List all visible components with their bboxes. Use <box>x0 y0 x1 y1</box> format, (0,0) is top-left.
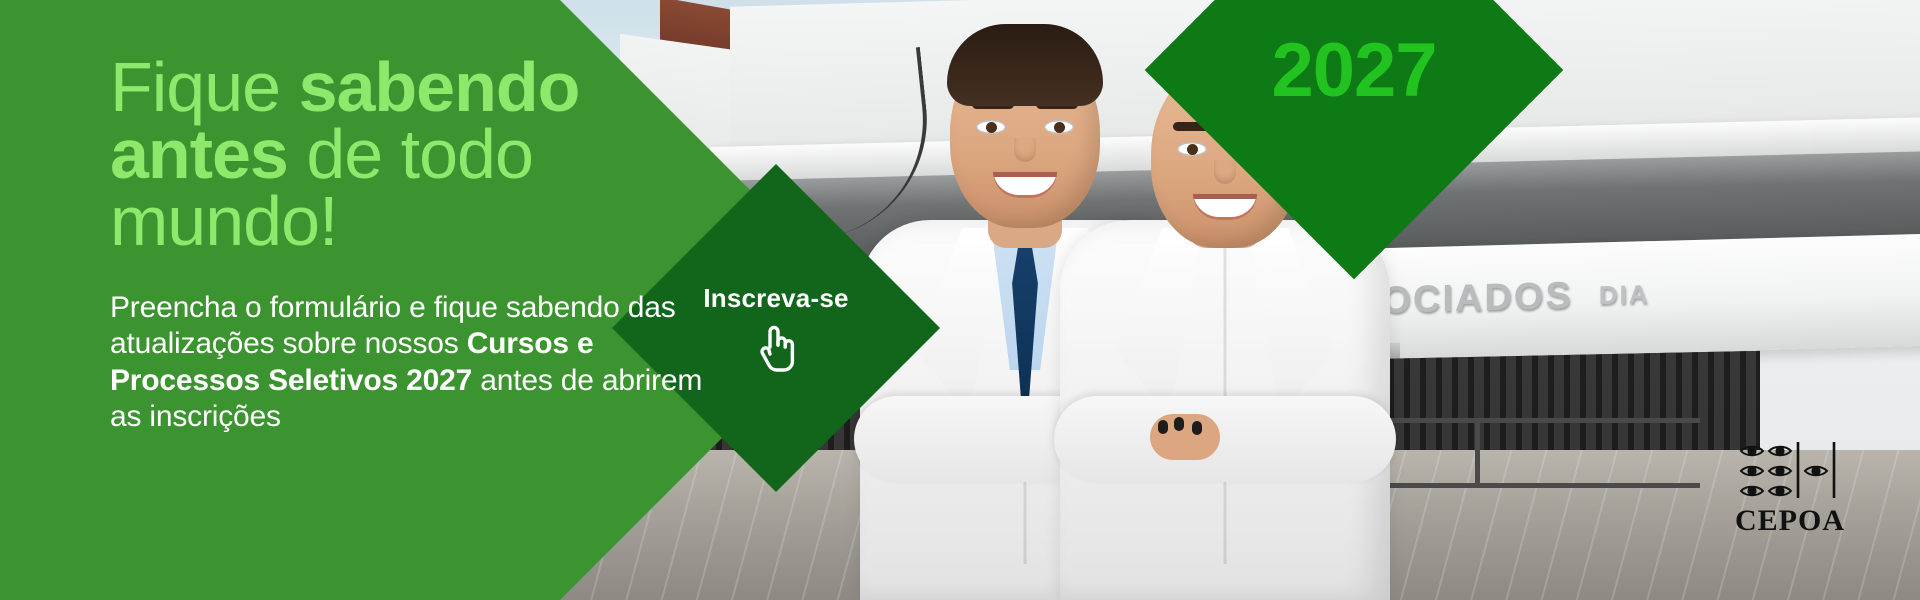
sign-suffix: DIA <box>1599 278 1650 310</box>
eye-left <box>976 120 1006 134</box>
smile <box>993 172 1057 198</box>
eye-grid-icon <box>1738 440 1842 502</box>
badge-content: 2027 <box>1206 0 1502 218</box>
pointing-hand-cursor-icon <box>749 320 803 374</box>
fingernail <box>1174 417 1184 431</box>
copy-block: Fique sabendo antes de todo mundo! Preen… <box>110 54 710 436</box>
fingernail <box>1158 420 1168 434</box>
headline: Fique sabendo antes de todo mundo! <box>110 54 710 256</box>
cta-label: Inscreva-se <box>703 283 848 314</box>
eye-left <box>1177 142 1207 156</box>
coat-lapel-left <box>1116 228 1202 418</box>
fingernail <box>1192 421 1202 435</box>
logo-wordmark: CEPOA <box>1720 504 1860 538</box>
cepoa-logo: CEPOA <box>1720 440 1860 538</box>
coat-lapel-right <box>1248 228 1334 418</box>
headline-part-3: mundo! <box>110 182 337 260</box>
nose <box>1014 138 1036 162</box>
subcopy: Preencha o formulário e fique sabendo da… <box>110 290 710 436</box>
hand <box>1150 414 1220 460</box>
promo-banner: 89 - 9333 NOITE OCULISTAS ASSOCIADOS DIA <box>0 0 1920 600</box>
clasped-hands-arms <box>1054 396 1396 482</box>
badge-year-text: 2027 <box>1271 26 1436 113</box>
